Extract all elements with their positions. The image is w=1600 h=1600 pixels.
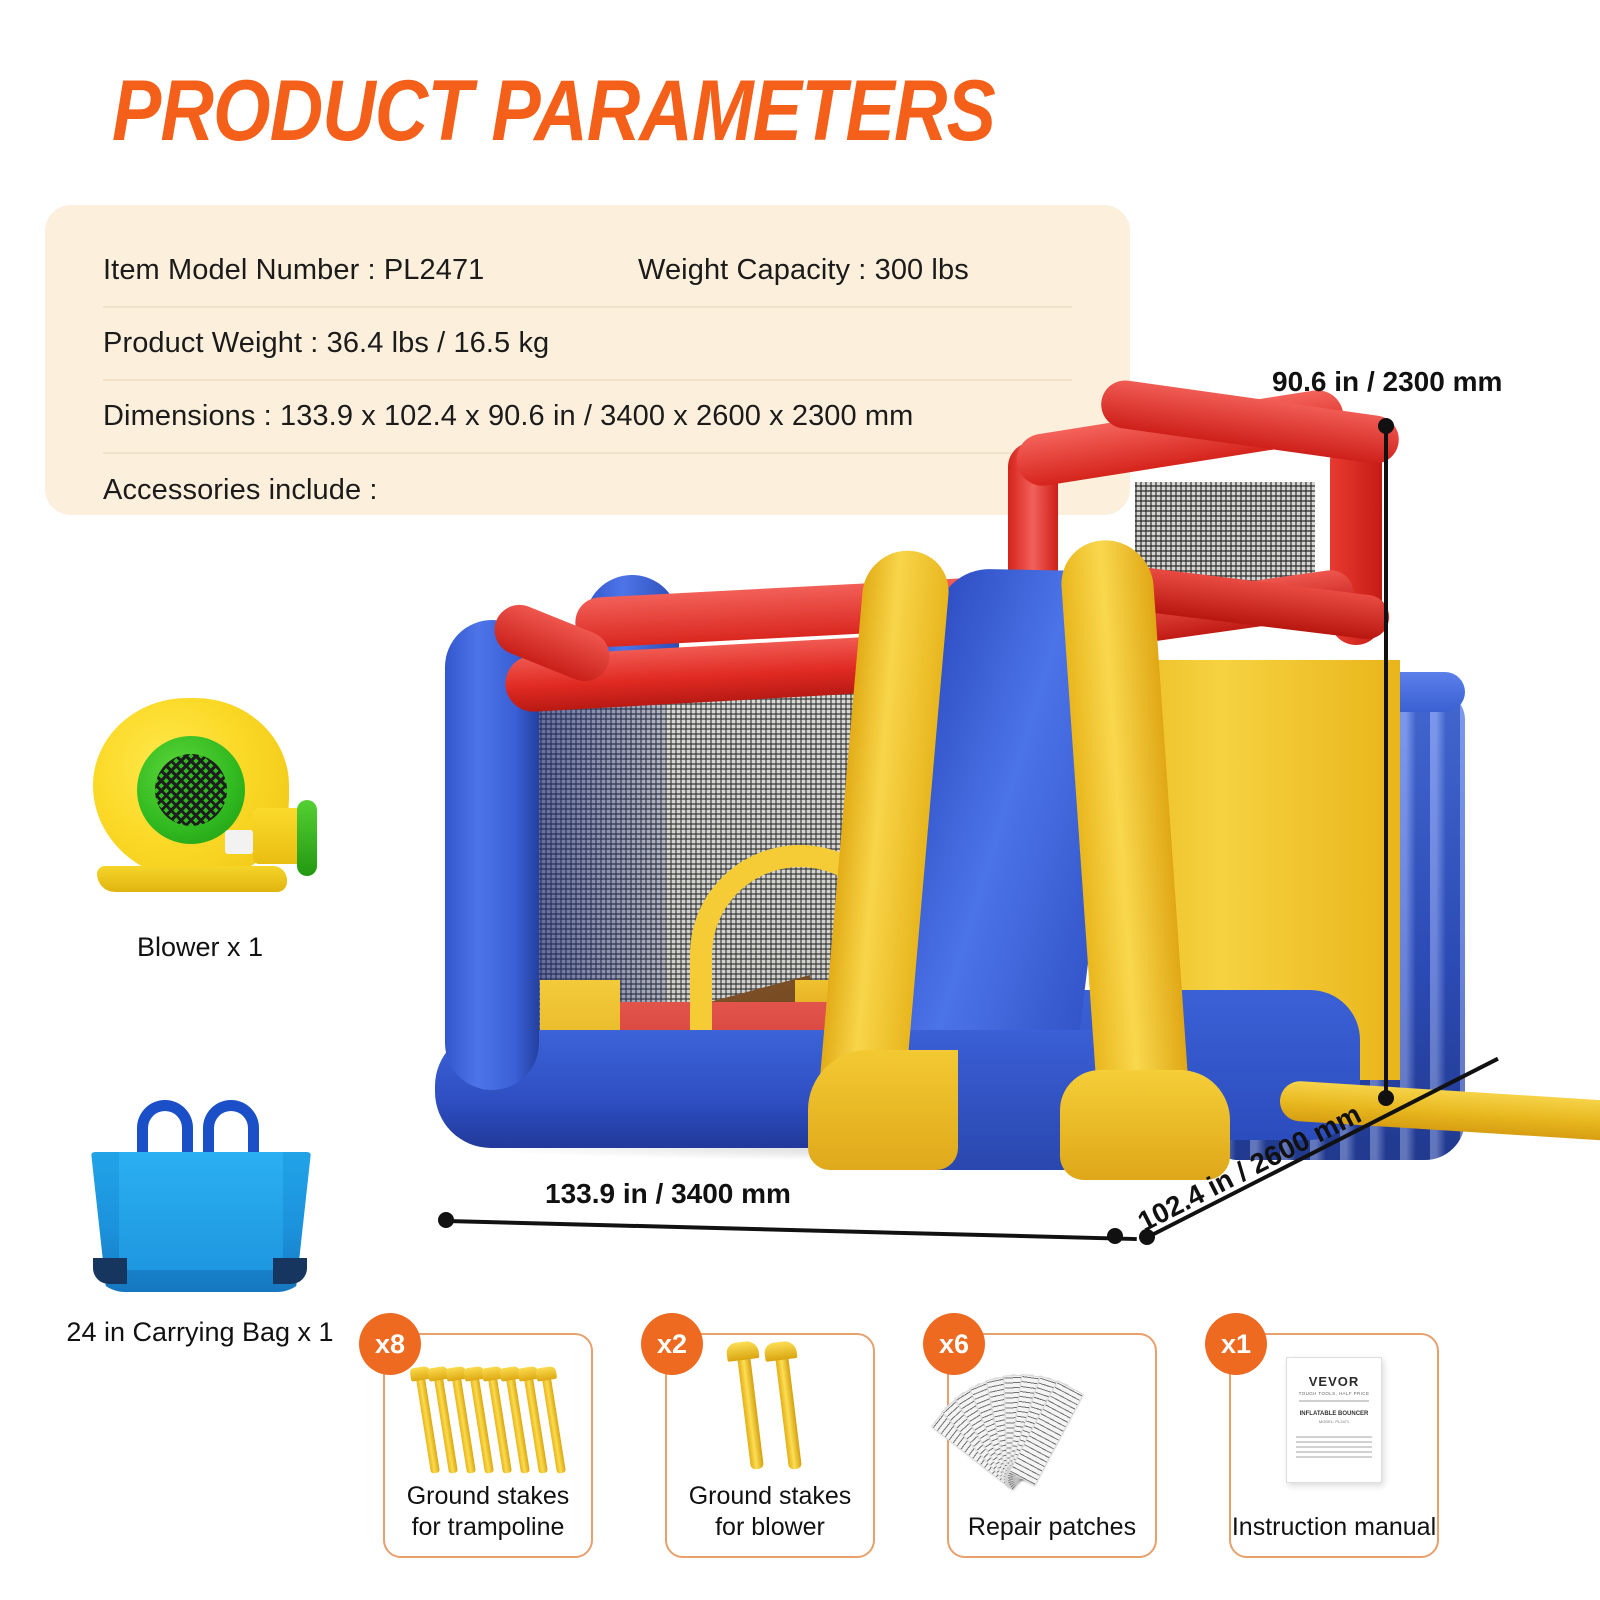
manual-model: MODEL: PL2471 — [1287, 1419, 1381, 1424]
card-repair-patches: x6 Repair patches — [947, 1333, 1157, 1558]
slide-rail-left-foot — [808, 1050, 958, 1170]
manual-subtitle: INFLATABLE BOUNCER — [1287, 1411, 1381, 1417]
card-label: Instruction manual — [1231, 1512, 1437, 1543]
card-label-line1: Repair patches — [968, 1513, 1136, 1541]
manual-sheet: VEVOR TOUGH TOOLS, HALF PRICE INFLATABLE… — [1286, 1357, 1382, 1483]
product-illustration — [400, 390, 1500, 1210]
spec-accessories-heading: Accessories include : — [103, 474, 378, 507]
repair-patches-icon — [949, 1353, 1155, 1473]
spec-weight-capacity: Weight Capacity : 300 lbs — [638, 254, 969, 287]
spec-product-weight: Product Weight : 36.4 lbs / 16.5 kg — [103, 327, 549, 360]
carrying-bag-corner-left — [93, 1258, 127, 1284]
spec-row: Item Model Number : PL2471 Weight Capaci… — [103, 235, 1072, 308]
accessory-blower-label: Blower x 1 — [30, 932, 370, 963]
carrying-bag-corner-right — [273, 1258, 307, 1284]
card-label-line1: Ground stakes — [689, 1482, 852, 1510]
accessory-blower: Blower x 1 — [30, 690, 370, 963]
dimension-dot-width-right — [1107, 1228, 1123, 1244]
card-label: Ground stakes for blower — [667, 1481, 873, 1542]
dimension-dot-height-bottom — [1378, 1090, 1394, 1106]
slide-rail-right-foot — [1060, 1070, 1230, 1180]
carrying-bag-illustration — [75, 1090, 325, 1305]
spec-model-number: Item Model Number : PL2471 — [103, 254, 484, 287]
dimension-label-width: 133.9 in / 3400 mm — [545, 1178, 791, 1210]
dimension-label-height: 90.6 in / 2300 mm — [1272, 366, 1502, 398]
blower-warning-label — [225, 830, 253, 854]
ground-stakes-trampoline-icon — [385, 1353, 591, 1473]
card-label-line1: Instruction manual — [1232, 1513, 1436, 1541]
accessory-carrying-bag: 24 in Carrying Bag x 1 — [30, 1090, 370, 1348]
card-ground-stakes-trampoline: x8 Ground stakes for trampoline — [383, 1333, 593, 1558]
manual-tagline: TOUGH TOOLS, HALF PRICE — [1287, 1391, 1381, 1396]
dimension-dot-depth-near — [1139, 1229, 1155, 1245]
card-label: Ground stakes for trampoline — [385, 1481, 591, 1542]
card-label-line2: for blower — [715, 1513, 825, 1541]
spec-row: Product Weight : 36.4 lbs / 16.5 kg — [103, 308, 1072, 381]
blower-grille-icon — [155, 754, 227, 826]
dimension-line-width — [447, 1219, 1137, 1241]
product-parameters-page: PRODUCT PARAMETERS Item Model Number : P… — [0, 0, 1600, 1600]
blower-outlet-nozzle — [297, 800, 317, 876]
dimension-line-height — [1384, 424, 1388, 1104]
ground-stakes-blower-icon — [667, 1353, 873, 1473]
manual-body-text — [1296, 1436, 1372, 1458]
card-instruction-manual: x1 VEVOR TOUGH TOOLS, HALF PRICE INFLATA… — [1229, 1333, 1439, 1558]
card-label-line2: for trampoline — [412, 1513, 565, 1541]
card-label: Repair patches — [949, 1512, 1155, 1543]
carrying-bag-front-panel — [119, 1152, 283, 1270]
card-ground-stakes-blower: x2 Ground stakes for blower — [665, 1333, 875, 1558]
manual-brand: VEVOR — [1287, 1374, 1381, 1389]
dimension-dot-width-left — [438, 1212, 454, 1228]
accessory-carrying-bag-label: 24 in Carrying Bag x 1 — [30, 1317, 370, 1348]
dimension-dot-height-top — [1378, 418, 1394, 434]
instruction-manual-icon: VEVOR TOUGH TOOLS, HALF PRICE INFLATABLE… — [1231, 1353, 1437, 1473]
card-label-line1: Ground stakes — [407, 1482, 570, 1510]
blower-foot — [97, 866, 287, 892]
page-title: PRODUCT PARAMETERS — [112, 62, 995, 161]
blower-illustration — [75, 690, 325, 920]
